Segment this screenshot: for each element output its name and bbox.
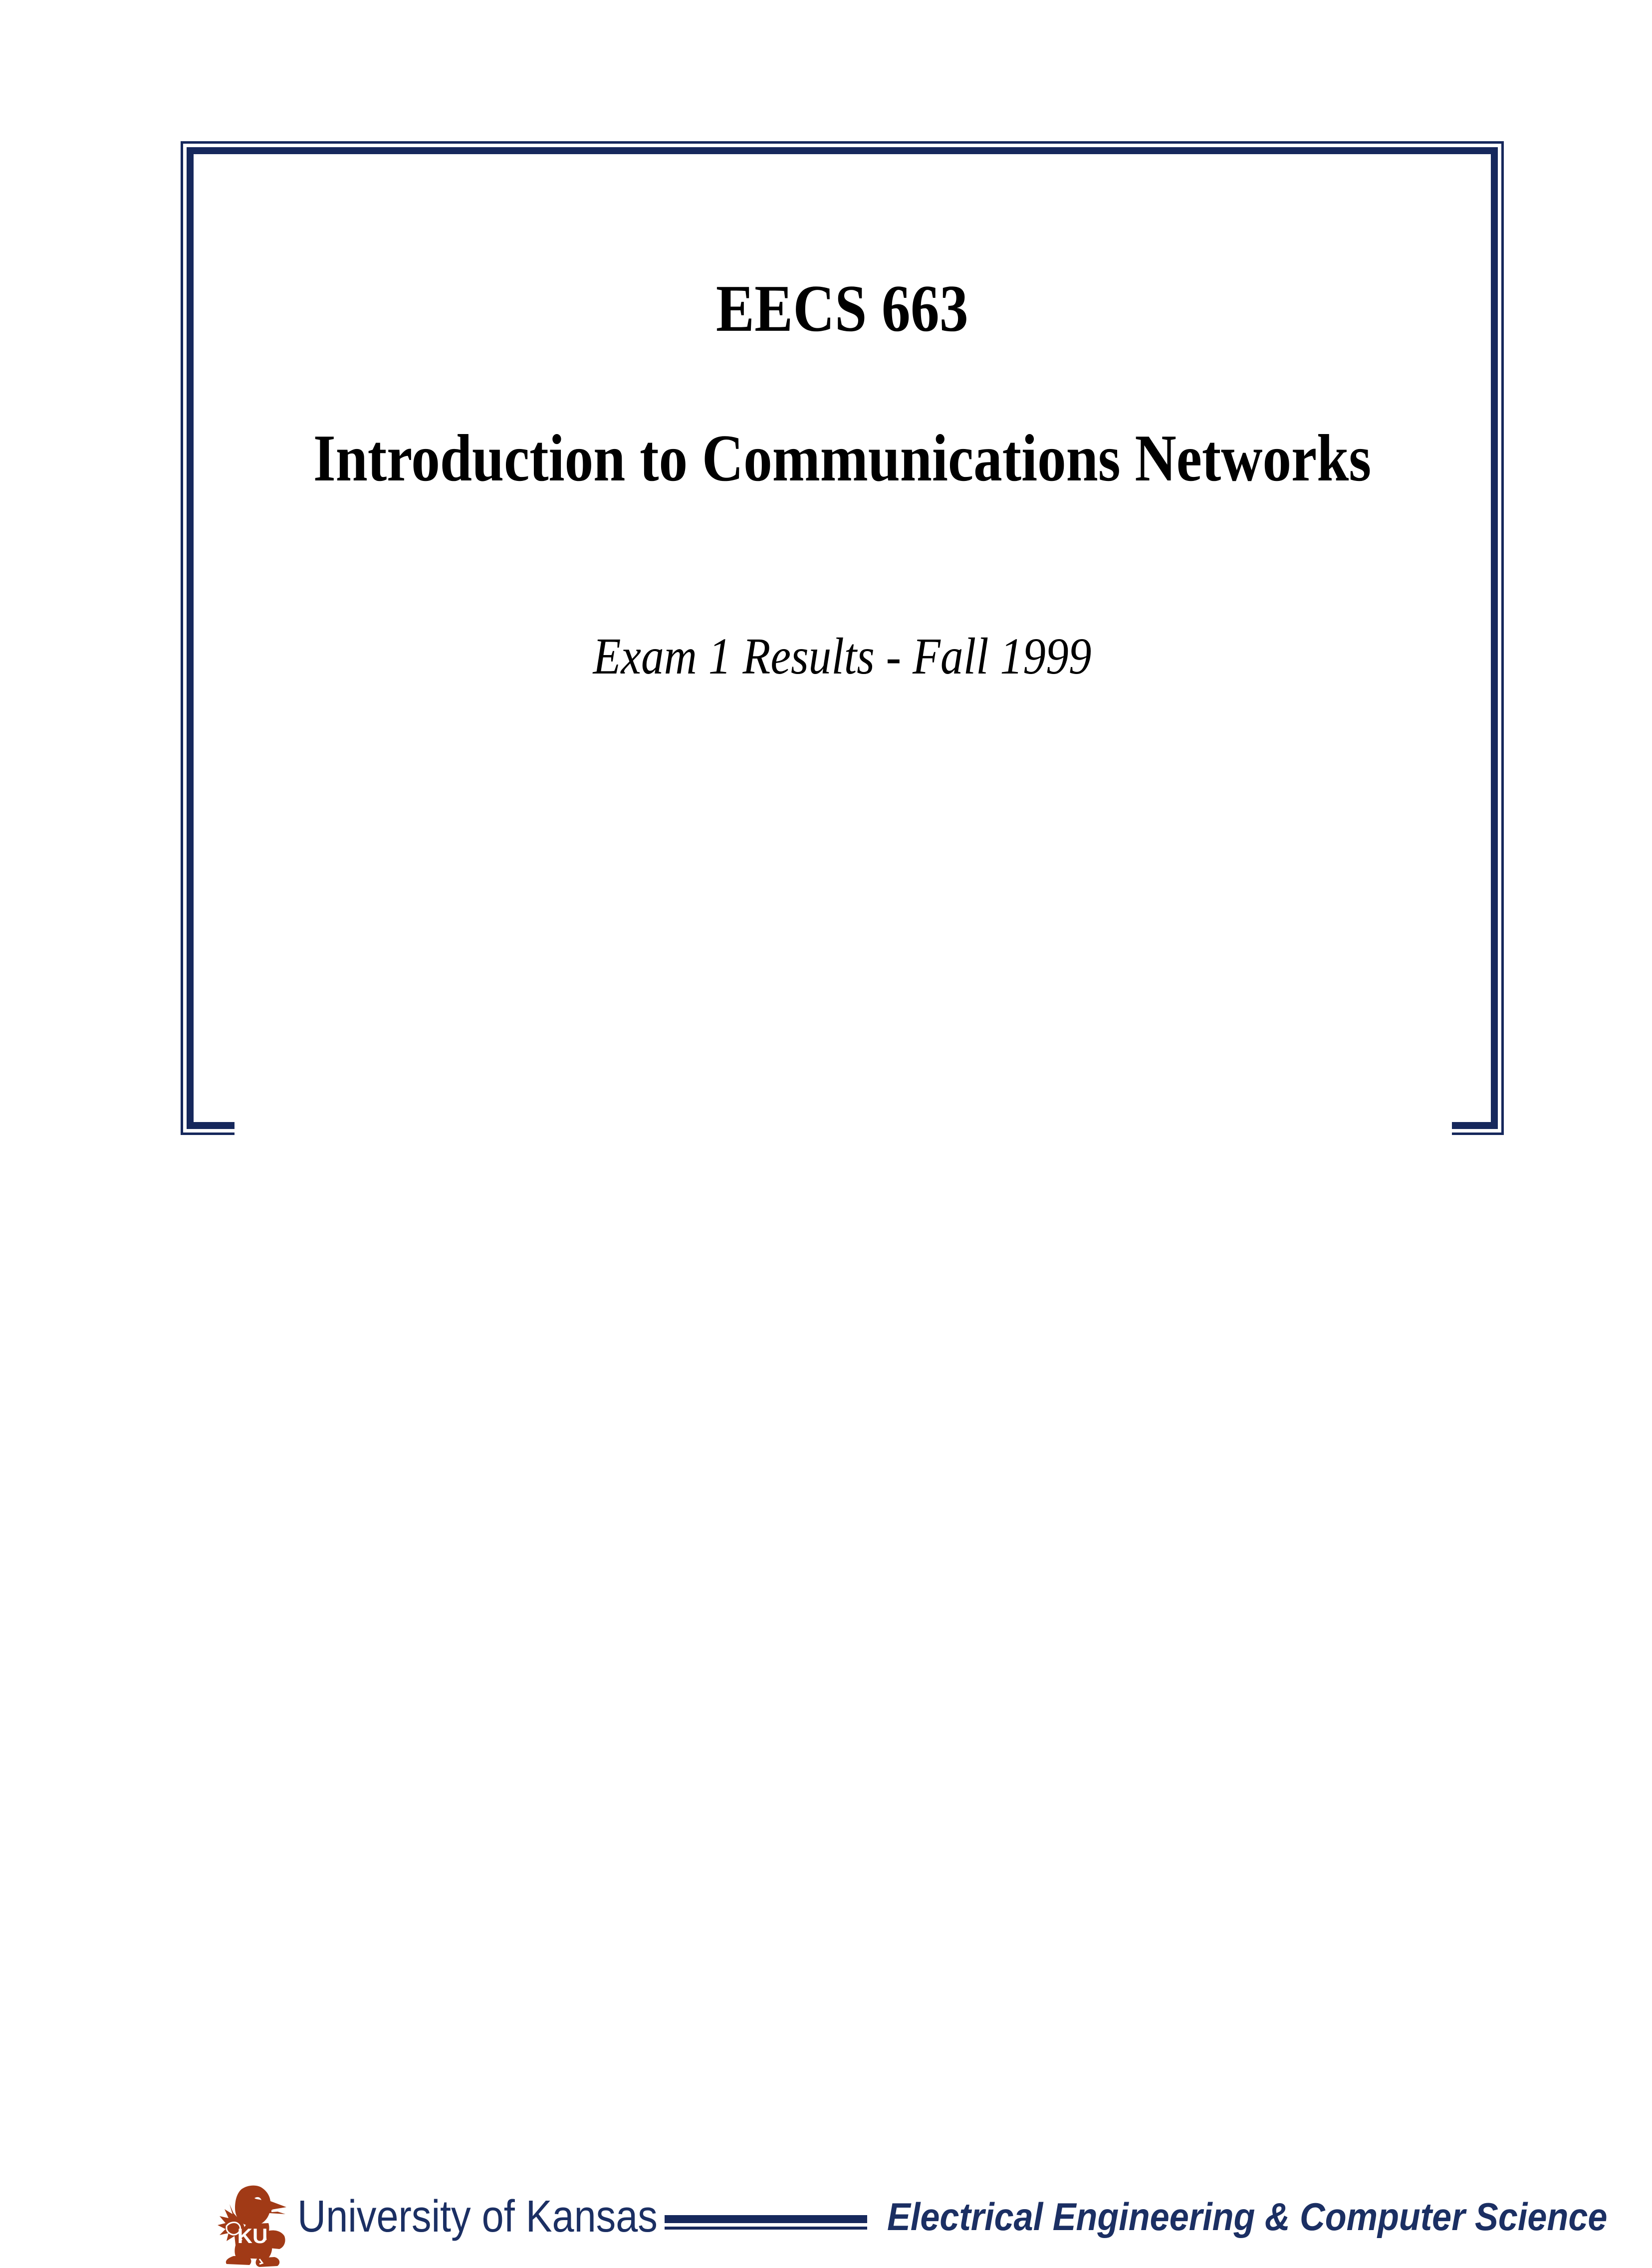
svg-text:KU: KU: [237, 2224, 268, 2248]
footer-university-label: University of Kansas: [297, 2194, 658, 2239]
ku-jayhawk-icon: KU: [212, 2183, 293, 2268]
page-title: Introduction to Communications Networks: [278, 419, 1406, 497]
footer-department-label: Electrical Engineering & Computer Scienc…: [887, 2197, 1607, 2236]
course-code-heading: EECS 663: [278, 273, 1406, 344]
footer-separator-thin-bar: [665, 2227, 867, 2230]
slide-footer: KU University of Kansas Electrical Engin…: [0, 1093, 1652, 1192]
footer-separator-rule: [665, 2215, 867, 2230]
footer-separator-thick-bar: [665, 2215, 867, 2223]
title-block: EECS 663 Introduction to Communications …: [187, 147, 1498, 685]
slide-subtitle: Exam 1 Results - Fall 1999: [265, 628, 1419, 685]
title-slide: EECS 663 Introduction to Communications …: [0, 0, 1652, 1272]
